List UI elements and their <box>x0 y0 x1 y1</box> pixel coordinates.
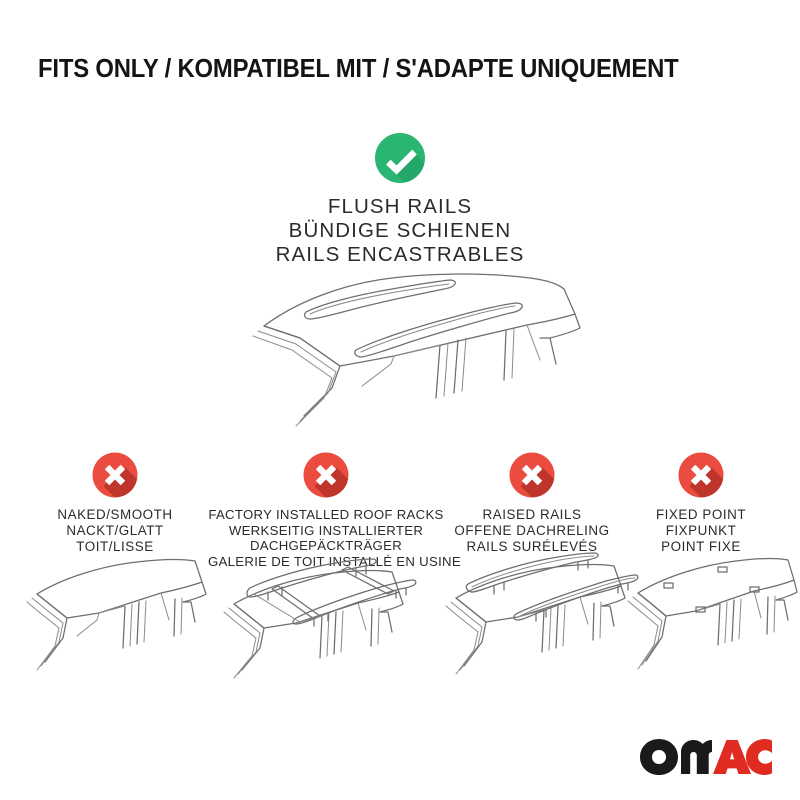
compatible-label-fr: RAILS ENCASTRABLES <box>0 243 800 267</box>
incompatible-item-raised-rails: RAISED RAILS OFFENE DACHRELING RAILS SUR… <box>432 452 632 555</box>
incompatible-label-de: NACKT/GLATT <box>15 523 215 539</box>
incompatible-label-en: NAKED/SMOOTH <box>15 507 215 523</box>
compatible-label-de: BÜNDIGE SCHIENEN <box>0 219 800 243</box>
incompatible-label-de-2: DACHGEPÄCKTRÄGER <box>208 538 444 554</box>
car-roof-fixed-point-illustration <box>618 549 784 679</box>
car-roof-factory-racks-illustration <box>208 556 444 686</box>
x-circle-icon <box>303 452 349 498</box>
incompatible-label-en: FIXED POINT <box>618 507 784 523</box>
check-circle-icon <box>374 132 426 184</box>
x-circle-icon <box>509 452 555 498</box>
incompatible-item-factory-racks: FACTORY INSTALLED ROOF RACKS WERKSEITIG … <box>208 452 444 570</box>
compatible-labels: FLUSH RAILS BÜNDIGE SCHIENEN RAILS ENCAS… <box>0 195 800 267</box>
incompatible-item-fixed-point: FIXED POINT FIXPUNKT POINT FIXE <box>618 452 784 555</box>
compatible-section: FLUSH RAILS BÜNDIGE SCHIENEN RAILS ENCAS… <box>0 132 800 267</box>
incompatible-label-de-1: WERKSEITIG INSTALLIERTER <box>208 523 444 539</box>
incompatible-label-en: RAISED RAILS <box>432 507 632 523</box>
incompatible-label-de: FIXPUNKT <box>618 523 784 539</box>
page-title: FITS ONLY / KOMPATIBEL MIT / S'ADAPTE UN… <box>38 55 678 84</box>
x-circle-icon <box>678 452 724 498</box>
incompatible-section: NAKED/SMOOTH NACKT/GLATT TOIT/LISSE <box>0 452 800 692</box>
incompatible-labels: RAISED RAILS OFFENE DACHRELING RAILS SUR… <box>432 507 632 555</box>
incompatible-label-de: OFFENE DACHRELING <box>432 523 632 539</box>
incompatible-label-en: FACTORY INSTALLED ROOF RACKS <box>208 507 444 523</box>
incompatible-item-naked-smooth: NAKED/SMOOTH NACKT/GLATT TOIT/LISSE <box>15 452 215 555</box>
x-circle-icon <box>92 452 138 498</box>
incompatible-labels: NAKED/SMOOTH NACKT/GLATT TOIT/LISSE <box>15 507 215 555</box>
incompatible-labels: FIXED POINT FIXPUNKT POINT FIXE <box>618 507 784 555</box>
car-roof-raised-rails-illustration <box>432 552 632 682</box>
car-roof-naked-smooth-illustration <box>15 552 215 682</box>
omac-logo <box>640 738 772 776</box>
compatible-label-en: FLUSH RAILS <box>0 195 800 219</box>
car-roof-flush-rails-illustration <box>244 268 584 428</box>
